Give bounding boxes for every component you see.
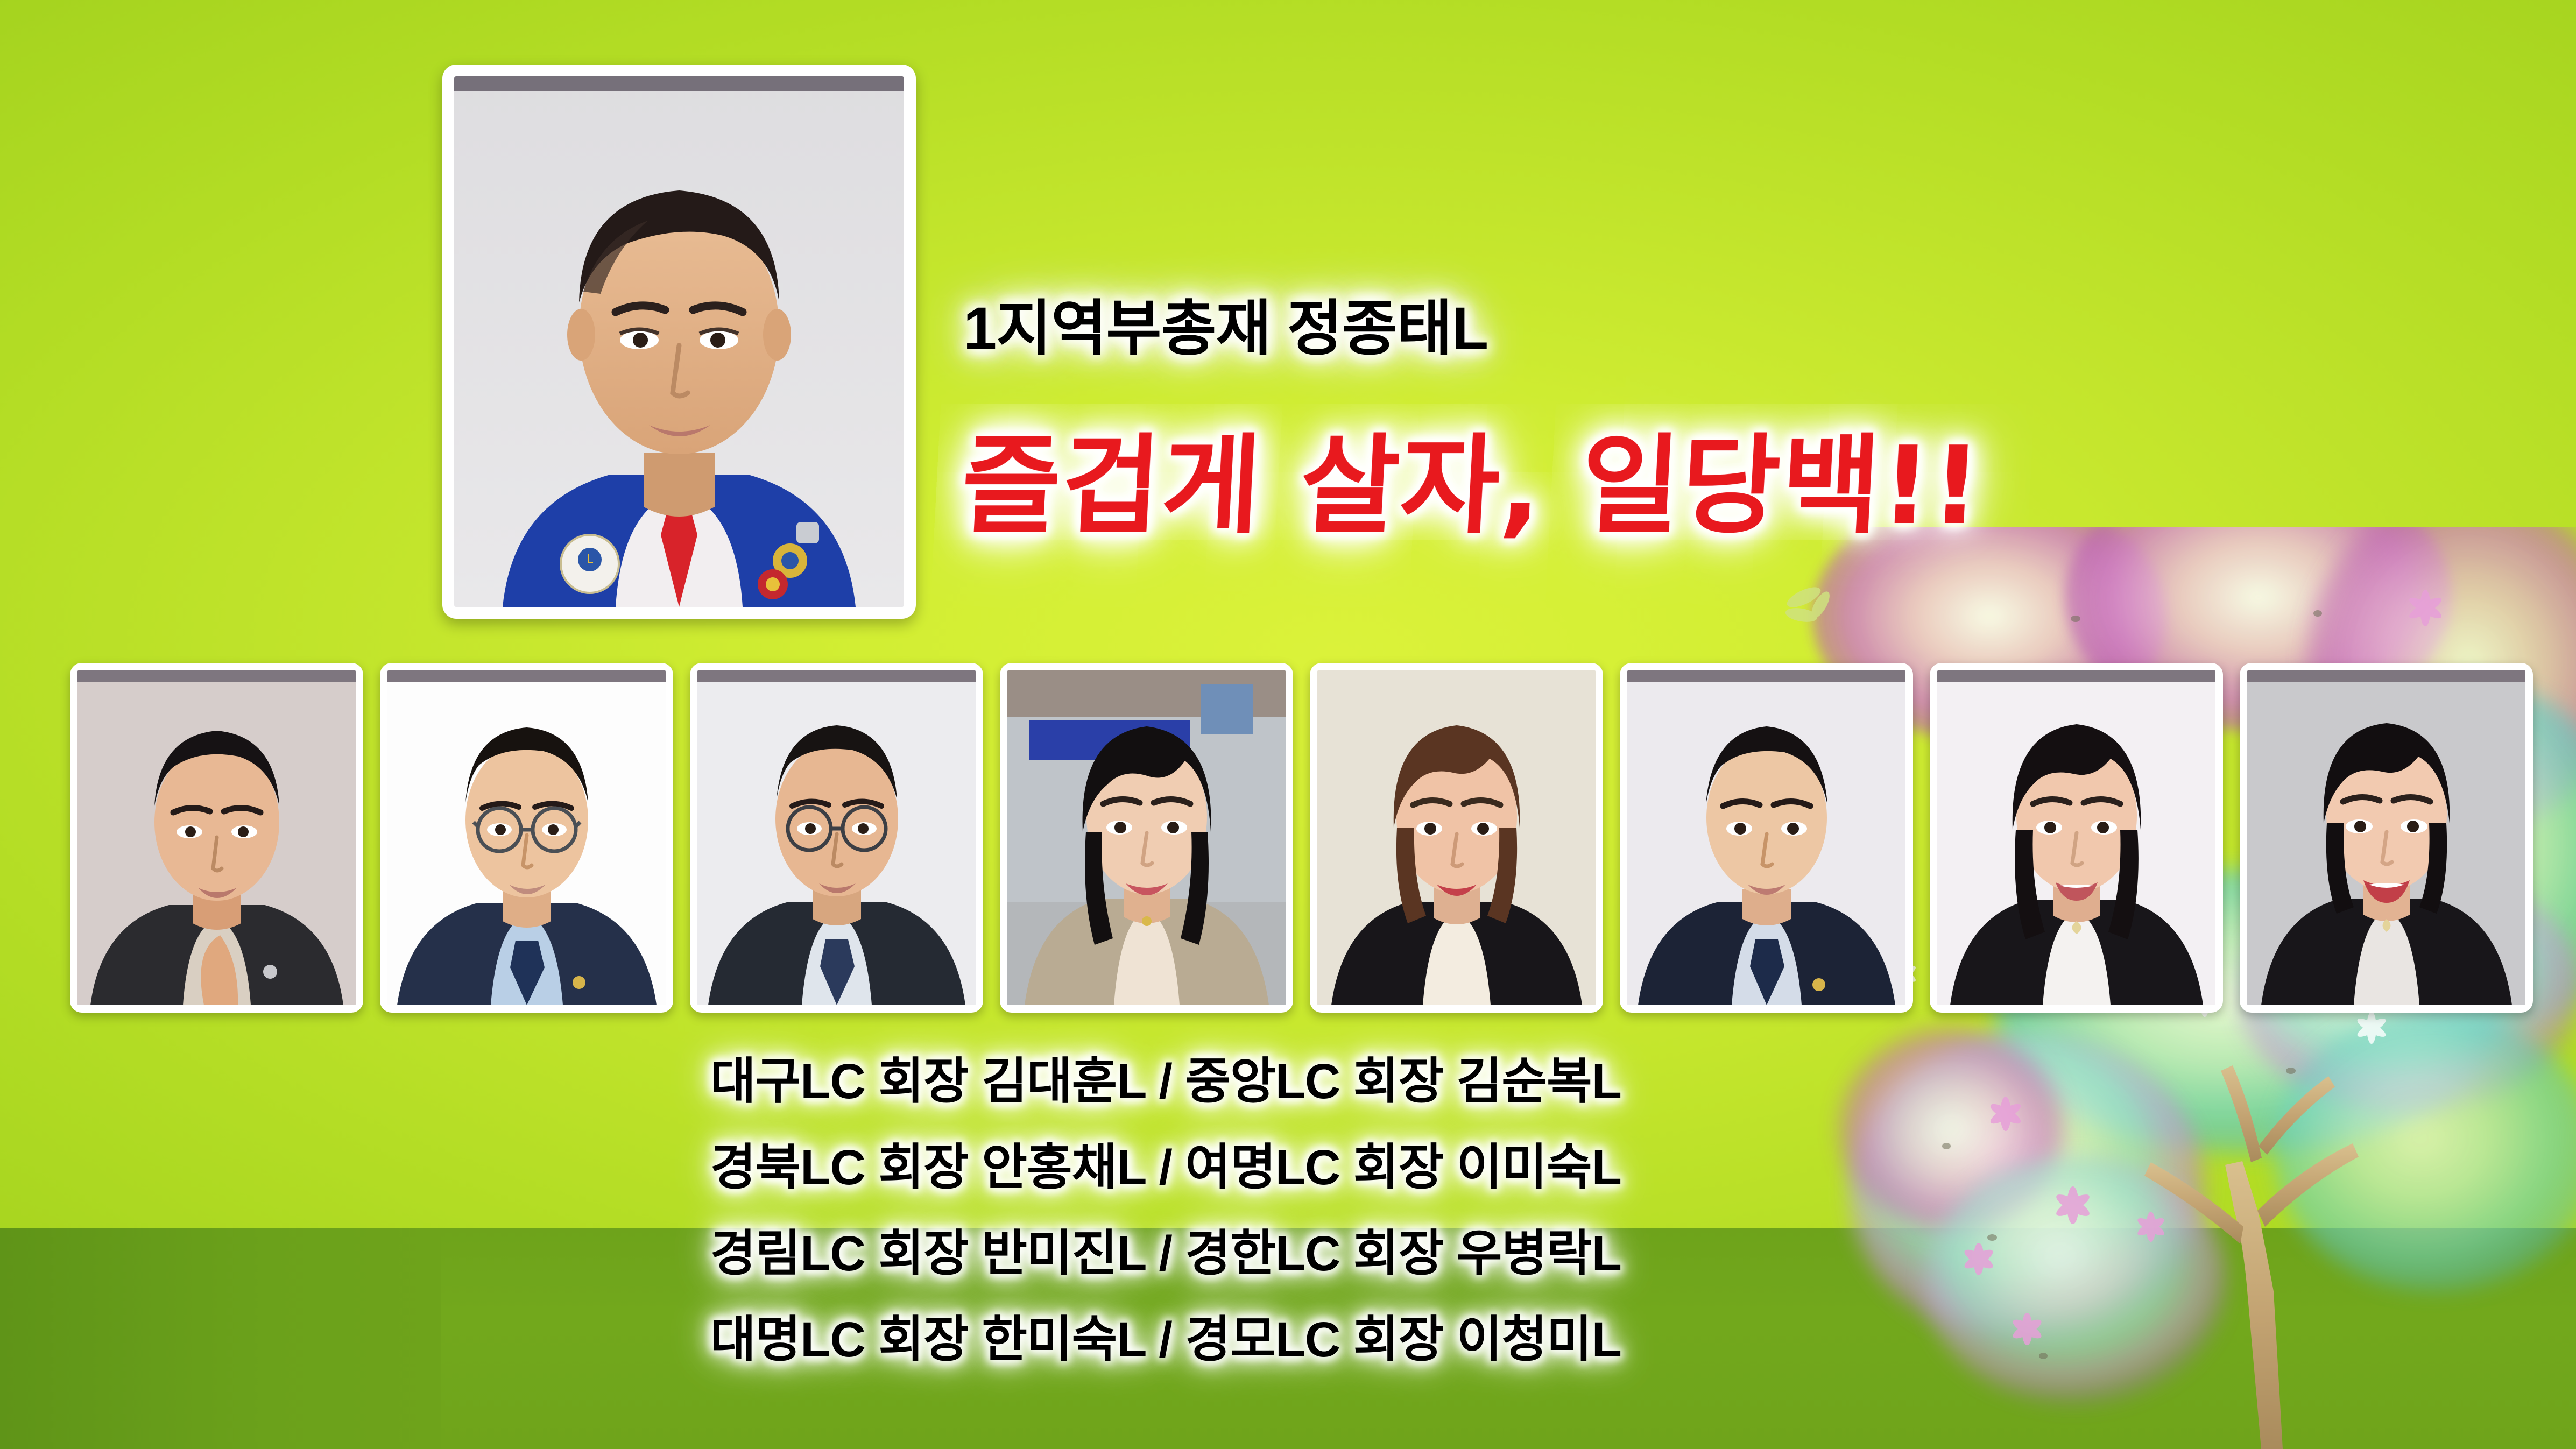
svg-text:L: L — [587, 553, 594, 566]
officer-photo-0 — [77, 670, 356, 1005]
roster-line-1: 대구LC 회장 김대훈L / 중앙LC 회장 김순복L — [710, 1038, 1948, 1125]
officer-photo-card-5 — [1620, 663, 1913, 1013]
subtitle-text: 1지역부총재 정종태L — [963, 280, 1488, 367]
officer-photo-card-7 — [2240, 663, 2533, 1013]
poster-canvas: L 1지역부총재 정종태L 즐겁게 살자, 일당백!! — [0, 0, 2576, 1449]
roster-line-2: 경북LC 회장 안홍채L / 여명LC 회장 이미숙L — [710, 1125, 1948, 1211]
headline-slogan: 즐겁게 살자, 일당백!! — [958, 398, 1986, 554]
officer-photo-6 — [1937, 670, 2215, 1005]
officer-photo-1 — [387, 670, 666, 1005]
officer-photo-card-3 — [1000, 663, 1293, 1013]
hero-portrait-photo: L — [454, 76, 904, 607]
officer-photo-card-2 — [690, 663, 983, 1013]
officer-photo-3 — [1007, 670, 1286, 1005]
hero-portrait-frame: L — [442, 65, 916, 619]
officer-photo-7 — [2247, 670, 2525, 1005]
officer-photo-4 — [1317, 670, 1596, 1005]
officer-photo-5 — [1627, 670, 1905, 1005]
background-bottom-band-left — [0, 1228, 441, 1449]
roster-line-4: 대명LC 회장 한미숙L / 경모LC 회장 이청미L — [710, 1297, 1948, 1383]
officer-photo-row — [0, 663, 2576, 1013]
roster-line-3: 경림LC 회장 반미진L / 경한LC 회장 우병락L — [710, 1211, 1948, 1297]
officer-roster-list: 대구LC 회장 김대훈L / 중앙LC 회장 김순복L 경북LC 회장 안홍채L… — [710, 1038, 1948, 1383]
officer-photo-card-1 — [380, 663, 673, 1013]
officer-photo-card-4 — [1310, 663, 1603, 1013]
officer-photo-card-0 — [70, 663, 363, 1013]
officer-photo-card-6 — [1930, 663, 2223, 1013]
officer-photo-2 — [697, 670, 976, 1005]
